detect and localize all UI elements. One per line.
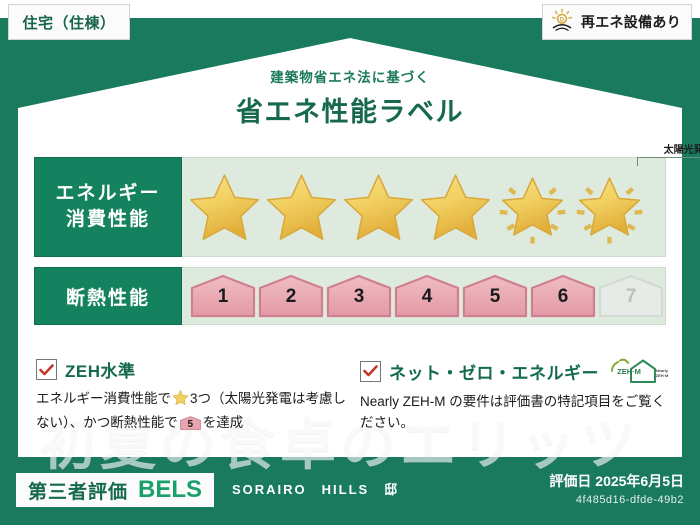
solar-generation-annotation: 太陽光発電(自家消費)分 [637,141,700,166]
inline-star-icon [172,389,189,413]
dwelling-type-label: 住宅（住棟） [22,12,115,33]
insulation-level-4-number: 4 [394,286,460,308]
zeh-desc-part1: エネルギー消費性能で [36,391,171,406]
headline-subtitle: 建築物省エネ法に基づく [0,66,700,86]
renewable-badge-label: 再エネ設備あり [581,12,681,32]
dwelling-type-tab: 住宅（住棟） [8,4,130,40]
energy-star-1 [186,169,263,245]
inline-insulation-badge-number: 5 [180,417,201,433]
evaluation-date: 評価日 2025年6月5日 [549,471,684,491]
evaluation-info: 評価日 2025年6月5日 4f485d16-dfde-49b2 [549,471,684,506]
insulation-level-1: 1 [190,274,256,318]
headline-title: 省エネ性能ラベル [0,90,700,129]
evaluation-id: 4f485d16-dfde-49b2 [549,494,684,506]
energy-label-line2: 消費性能 [66,207,150,233]
zeh-m-logo-icon: ZEH·M Nearly ZEH·M [607,357,671,385]
net-zero-energy-claim: ネット・ゼロ・エネルギー ZEH·M Nearly ZEH·M Nearly Z… [360,357,672,434]
zeh-standard-claim: ZEH水準 エネルギー消費性能で 3つ（太陽光発電は考慮しない）、かつ断熱性能で… [36,357,356,434]
svg-text:D: D [560,17,565,23]
zeh-standard-check-icon [36,359,57,380]
page-title: 建築物省エネ法に基づく 省エネ性能ラベル [0,66,700,129]
energy-star-5-solar [494,169,571,245]
insulation-level-2-number: 2 [258,286,324,308]
zeh-standard-description: エネルギー消費性能で 3つ（太陽光発電は考慮しない）、かつ断熱性能で 5 を達成 [36,389,356,434]
zeh-desc-part3: を達成 [203,415,244,430]
insulation-level-5: 5 [462,274,528,318]
insulation-label-text: 断熱性能 [66,283,150,310]
bels-logo-text: BELS [138,476,202,504]
insulation-level-3: 3 [326,274,392,318]
zeh-standard-title: ZEH水準 [65,357,136,382]
net-zero-check-icon [360,361,381,382]
energy-label-line1: エネルギー [55,181,160,207]
insulation-level-1-number: 1 [190,286,256,308]
insulation-performance-row: 断熱性能 1 2 3 [34,267,666,325]
insulation-level-7-number: 7 [598,286,664,308]
zeh-standard-header: ZEH水準 [36,357,356,382]
energy-star-track: 太陽光発電(自家消費)分 [182,157,666,257]
solar-bracket [637,157,700,166]
inline-insulation-badge-icon: 5 [180,415,201,431]
net-zero-title: ネット・ゼロ・エネルギー [389,359,599,384]
insulation-level-2: 2 [258,274,324,318]
solar-sun-icon: D [549,7,575,38]
renewable-equipment-badge: D 再エネ設備あり [542,4,692,40]
building-name: SORAIRO HILLS 邸 [232,479,399,498]
insulation-level-5-number: 5 [462,286,528,308]
insulation-level-7: 7 [598,274,664,318]
solar-annotation-label: 太陽光発電(自家消費)分 [637,141,700,156]
footer-bar: 第三者評価 BELS SORAIRO HILLS 邸 評価日 2025年6月5日… [0,465,700,525]
energy-star-3 [340,169,417,245]
net-zero-description: Nearly ZEH-M の要件は評価書の特記項目をご覧ください。 [360,392,672,434]
insulation-level-3-number: 3 [326,286,392,308]
insulation-level-6: 6 [530,274,596,318]
energy-star-6-solar [571,169,648,245]
third-party-label: 第三者評価 [28,477,128,504]
energy-performance-label: エネルギー 消費性能 [34,157,182,257]
energy-star-2 [263,169,340,245]
energy-star-4 [417,169,494,245]
third-party-evaluation-badge: 第三者評価 BELS [16,473,214,507]
zeh-m-logo-text: ZEH·M [617,367,641,376]
svg-text:ZEH·M: ZEH·M [656,373,669,378]
energy-performance-row: エネルギー 消費性能 太陽光発電(自家消費)分 [34,157,666,257]
insulation-performance-label: 断熱性能 [34,267,182,325]
net-zero-energy-header: ネット・ゼロ・エネルギー ZEH·M Nearly ZEH·M [360,357,672,385]
insulation-level-4: 4 [394,274,460,318]
insulation-level-track: 1 2 3 4 5 [182,267,666,325]
insulation-level-6-number: 6 [530,286,596,308]
